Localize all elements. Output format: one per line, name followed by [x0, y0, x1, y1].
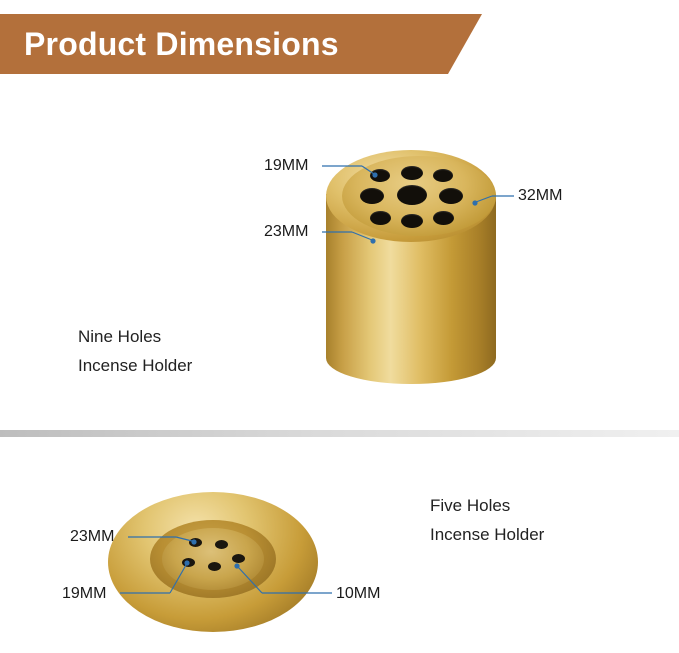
bowl-hole	[232, 554, 245, 563]
dimension-label-10mm-bowl: 10MM	[336, 584, 380, 604]
dimension-label-19mm-top: 19MM	[264, 156, 308, 176]
five-holes-incense-holder-image	[108, 492, 318, 640]
page-title: Product Dimensions	[24, 22, 339, 66]
bowl-inner-face	[162, 528, 264, 590]
nine-holes-caption-line2: Incense Holder	[78, 354, 192, 377]
nine-holes-incense-holder-image	[318, 150, 504, 398]
cylinder-hole	[433, 169, 453, 182]
dimension-label-23mm-cylinder: 23MM	[264, 222, 308, 242]
cylinder-hole	[433, 211, 454, 225]
cylinder-hole-center	[397, 185, 427, 205]
five-holes-caption-line2: Incense Holder	[430, 523, 544, 546]
dimension-label-19mm-bowl: 19MM	[62, 584, 106, 604]
section-divider	[0, 430, 679, 437]
five-holes-caption-line1: Five Holes	[430, 494, 510, 517]
bowl-hole	[215, 540, 228, 549]
nine-holes-caption-line1: Nine Holes	[78, 325, 161, 348]
cylinder-hole	[370, 211, 391, 225]
cylinder-hole	[401, 214, 423, 228]
dimension-label-23mm-bowl: 23MM	[70, 527, 114, 547]
header-bar-tail-shape	[448, 14, 482, 74]
bowl-hole	[208, 562, 221, 571]
cylinder-hole	[370, 169, 390, 182]
cylinder-hole	[439, 188, 463, 204]
dimension-label-32mm: 32MM	[518, 186, 562, 206]
header-banner: Product Dimensions	[0, 0, 679, 88]
cylinder-hole	[401, 166, 423, 180]
bowl-hole	[182, 558, 195, 567]
bowl-hole	[189, 538, 202, 547]
cylinder-hole	[360, 188, 384, 204]
